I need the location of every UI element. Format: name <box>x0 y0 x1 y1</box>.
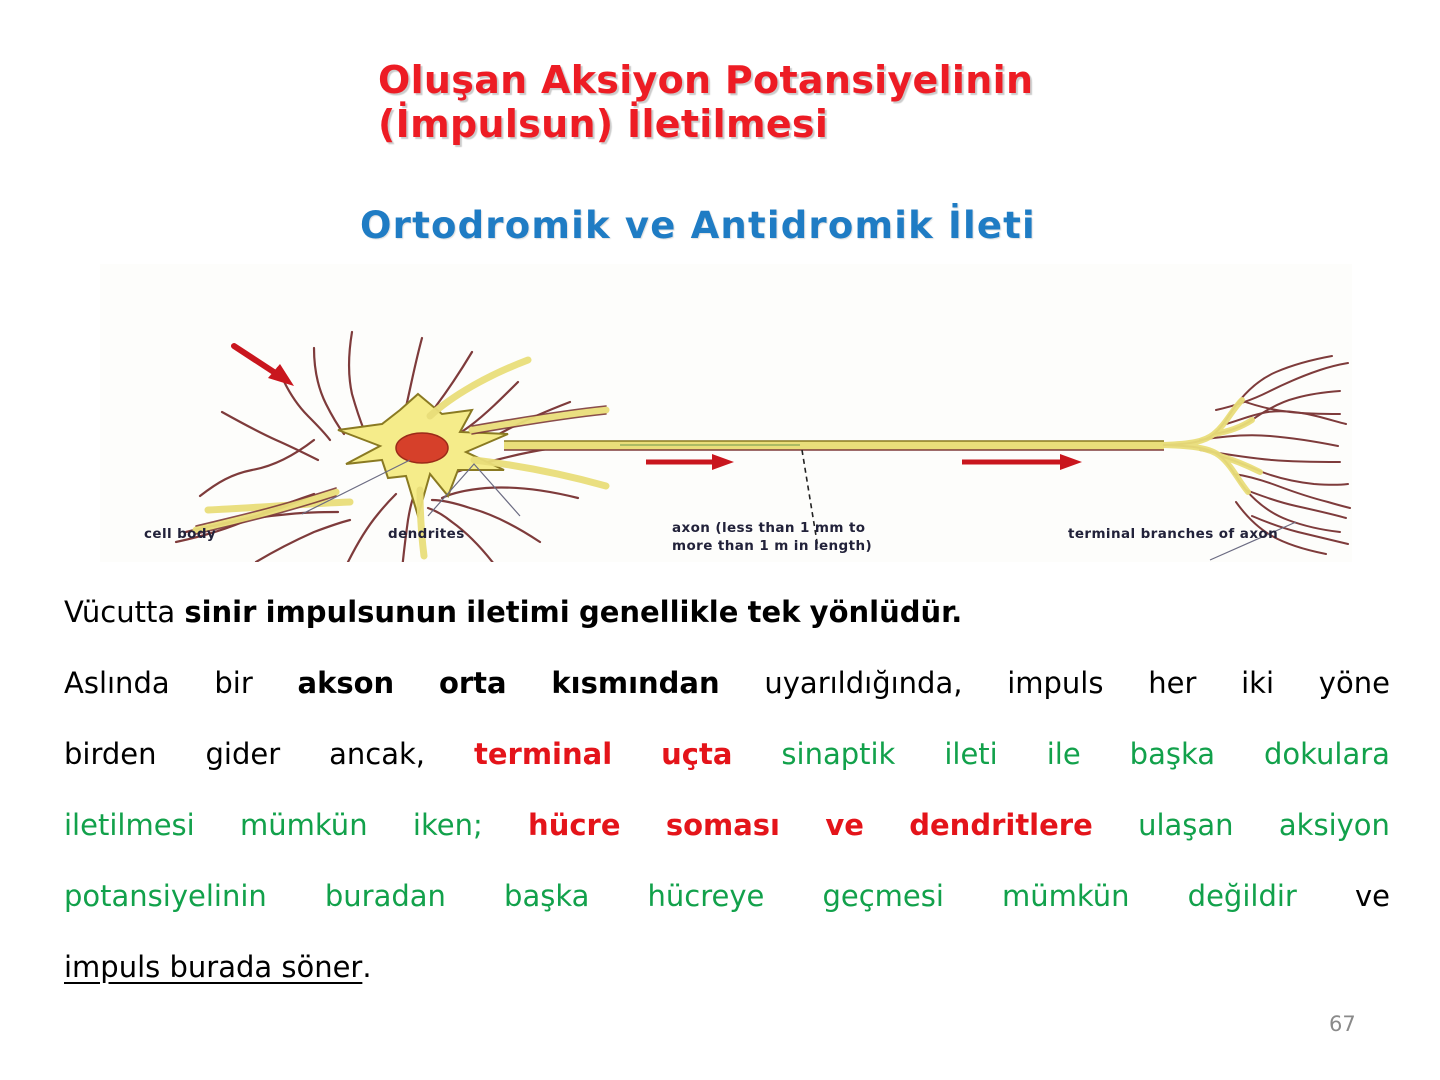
text-run: iken; <box>413 811 483 840</box>
label-dendrites: dendrites <box>388 526 465 542</box>
axon-shape <box>504 441 1164 450</box>
text-run: başka <box>1130 740 1215 769</box>
text-run: dendritlere <box>909 811 1093 840</box>
slide-body-text: Vücutta sinir impulsunun iletimi genelli… <box>64 598 1390 1024</box>
text-run: iki <box>1241 669 1274 698</box>
text-run: mümkün <box>240 811 368 840</box>
text-run: impuls burada söner <box>64 953 362 982</box>
page-title: Oluşan Aksiyon Potansiyelinin (İmpulsun)… <box>378 58 1278 146</box>
text-run: dokulara <box>1264 740 1390 769</box>
text-run: birden <box>64 740 157 769</box>
text-run: tek <box>748 598 801 627</box>
text-run: yönlüdür. <box>810 598 963 627</box>
page-number: 67 <box>1329 1012 1356 1036</box>
text-run: orta <box>439 669 507 698</box>
paragraph-1: Vücutta sinir impulsunun iletimi genelli… <box>64 598 1390 669</box>
text-run: mümkün <box>1002 882 1130 911</box>
text-run: bir <box>214 669 252 698</box>
text-run: sinir <box>184 598 256 627</box>
text-run: akson <box>298 669 395 698</box>
text-line: impuls burada söner. <box>64 953 1390 1024</box>
text-run: impuls <box>1007 669 1103 698</box>
text-run: her <box>1148 669 1196 698</box>
text-run: . <box>362 953 371 982</box>
text-line: birdengiderancak,terminaluçtasinaptikile… <box>64 740 1390 811</box>
text-run: ulaşan <box>1138 811 1233 840</box>
text-run: soması <box>666 811 780 840</box>
text-run: hücreye <box>648 882 765 911</box>
text-run: potansiyelinin <box>64 882 267 911</box>
page-subtitle: Ortodromik ve Antidromik İleti <box>360 204 1320 247</box>
text-run: ancak, <box>329 740 425 769</box>
text-run: gider <box>206 740 281 769</box>
text-run: hücre <box>528 811 620 840</box>
text-run: impulsunun <box>266 598 457 627</box>
text-line: iletilmesimümküniken;hücresomasıvedendri… <box>64 811 1390 882</box>
text-run: ve <box>1355 882 1390 911</box>
text-line: Vücutta sinir impulsunun iletimi genelli… <box>64 598 1390 669</box>
text-run: ile <box>1047 740 1081 769</box>
text-run: buradan <box>325 882 446 911</box>
text-run: ileti <box>944 740 997 769</box>
label-axon-line2: more than 1 m in length) <box>672 538 872 554</box>
text-run: başka <box>504 882 589 911</box>
text-run: geçmesi <box>822 882 943 911</box>
text-run: iletimi <box>466 598 570 627</box>
text-run: uyarıldığında, <box>764 669 962 698</box>
paragraph-2: Aslındabiraksonortakısmındanuyarıldığınd… <box>64 669 1390 1024</box>
text-run: ve <box>825 811 864 840</box>
text-run: aksiyon <box>1279 811 1390 840</box>
label-axon-line1: axon (less than 1 mm to <box>672 520 865 536</box>
text-run: genellikle <box>579 598 738 627</box>
text-run: kısmından <box>551 669 719 698</box>
text-run: iletilmesi <box>64 811 195 840</box>
text-run: sinaptik <box>781 740 895 769</box>
text-run: değildir <box>1188 882 1297 911</box>
text-run: Aslında <box>64 669 170 698</box>
text-run: terminal <box>474 740 612 769</box>
text-run: Vücutta <box>64 598 175 627</box>
neuron-diagram: cell body dendrites axon (less than 1 mm… <box>100 264 1352 562</box>
label-cell-body: cell body <box>144 526 216 542</box>
label-terminal-branches: terminal branches of axon <box>1068 526 1278 542</box>
text-line: Aslındabiraksonortakısmındanuyarıldığınd… <box>64 669 1390 740</box>
text-line: potansiyelininburadanbaşkahücreyegeçmesi… <box>64 882 1390 953</box>
text-run: yöne <box>1319 669 1390 698</box>
text-run: uçta <box>661 740 732 769</box>
